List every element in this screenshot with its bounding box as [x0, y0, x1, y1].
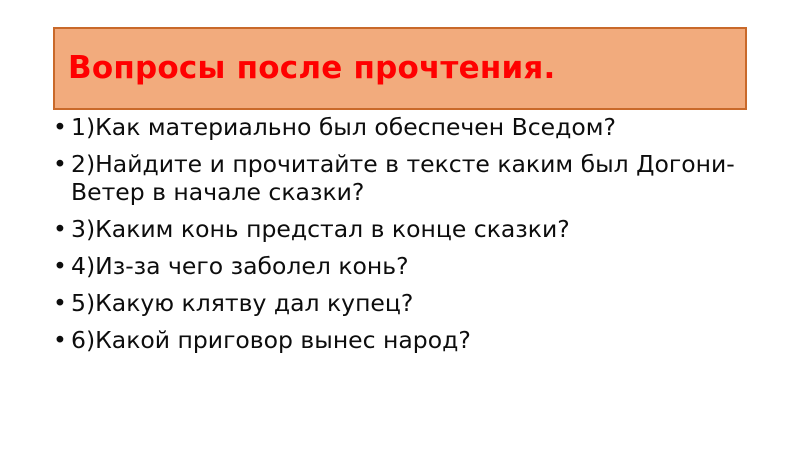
slide-canvas: Вопросы после прочтения. • 1)Как материа… — [0, 0, 800, 449]
bullet-icon: • — [53, 252, 67, 280]
list-item: • 5)Какую клятву дал купец? — [48, 289, 748, 317]
question-text-4: 4)Из-за чего заболел конь? — [71, 252, 748, 280]
question-text-6: 6)Какой приговор вынес народ? — [71, 326, 748, 354]
bullet-icon: • — [53, 289, 67, 317]
question-text-5: 5)Какую клятву дал купец? — [71, 289, 748, 317]
bullet-icon: • — [53, 326, 67, 354]
title-box: Вопросы после прочтения. — [53, 27, 747, 110]
question-text-2: 2)Найдите и прочитайте в тексте каким бы… — [71, 150, 748, 206]
list-item: • 4)Из-за чего заболел конь? — [48, 252, 748, 280]
bullet-icon: • — [53, 150, 67, 178]
questions-list: • 1)Как материально был обеспечен Вседом… — [48, 113, 748, 363]
list-item: • 6)Какой приговор вынес народ? — [48, 326, 748, 354]
list-item: • 2)Найдите и прочитайте в тексте каким … — [48, 150, 748, 206]
question-text-3: 3)Каким конь предстал в конце сказки? — [71, 215, 748, 243]
list-item: • 1)Как материально был обеспечен Вседом… — [48, 113, 748, 141]
bullet-icon: • — [53, 113, 67, 141]
question-text-1: 1)Как материально был обеспечен Вседом? — [71, 113, 748, 141]
page-title: Вопросы после прочтения. — [55, 51, 555, 85]
list-item: • 3)Каким конь предстал в конце сказки? — [48, 215, 748, 243]
bullet-icon: • — [53, 215, 67, 243]
